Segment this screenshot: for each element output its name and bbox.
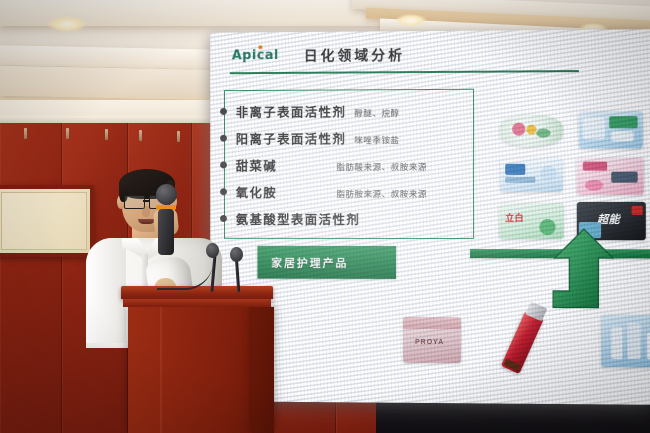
conference-photo: Apical 日化领域分析 非离子表面活性剂 醇醚、烷醇 阳离子表面活性剂 咪唑… (0, 0, 650, 433)
bullet-dot-icon (220, 135, 227, 142)
apical-logo: Apical (232, 48, 279, 63)
microphone-head (156, 184, 177, 205)
slide-content: Apical 日化领域分析 非离子表面活性剂 醇醚、烷醇 阳离子表面活性剂 咪唑… (210, 29, 650, 405)
product-thumb-pink-floral-pack (577, 157, 644, 194)
product-thumb-white-blue-softener (500, 158, 562, 192)
ceiling-downlight (47, 16, 87, 32)
podium-mic-head (206, 243, 219, 258)
bullet-text: 氨基酸型表面活性剂 (236, 209, 360, 228)
section-band-label: 家居护理产品 (271, 255, 348, 271)
bullet-dot-icon (220, 108, 227, 115)
podium-mic-head (230, 247, 243, 262)
list-item: 阳离子表面活性剂 咪唑季铵盐 (220, 128, 400, 148)
product-label: PROYA (415, 339, 444, 346)
list-item: 非离子表面活性剂 醇醚、烷醇 (220, 101, 400, 121)
product-thumb-blue-laundry-pack (579, 111, 643, 149)
podium-side (252, 307, 274, 433)
podium (128, 307, 268, 433)
slide-title: 日化领域分析 (304, 45, 405, 66)
list-item: 氧化胺 脂肪胺来源、叔胺来源 (220, 182, 427, 201)
product-label: 立白 (505, 211, 524, 224)
bullet-note: 咪唑季铵盐 (354, 134, 399, 146)
bullet-text: 非离子表面活性剂 (236, 101, 347, 120)
product-thumb-blue-skincare-set (601, 315, 650, 368)
podium-top-surface (121, 286, 273, 299)
product-thumb-floral-detergent-oval (500, 114, 562, 146)
list-item: 甜菜碱 脂肪酸来源、叔胺来源 (220, 155, 427, 174)
green-up-arrow-icon (553, 227, 616, 310)
product-thumb-red-lipstick-tube (501, 311, 544, 374)
microphone-body (158, 209, 174, 255)
bullet-text: 阳离子表面活性剂 (236, 128, 347, 147)
led-presentation-screen: Apical 日化领域分析 非离子表面活性剂 醇醚、烷醇 阳离子表面活性剂 咪唑… (210, 29, 650, 405)
apical-logo-text: Apical (232, 48, 279, 63)
bullet-note: 醇醚、烷醇 (354, 107, 399, 119)
product-thumb-proya-cream-jar: PROYA (403, 317, 461, 363)
title-underline (230, 70, 579, 74)
podium-moulding (123, 299, 271, 307)
bullet-note: 脂肪酸来源、叔胺来源 (336, 161, 427, 173)
ceiling-downlight (395, 14, 427, 27)
mouth (138, 219, 155, 224)
apical-logo-dot (258, 45, 262, 49)
bullet-note: 脂肪胺来源、叔胺来源 (336, 188, 427, 200)
